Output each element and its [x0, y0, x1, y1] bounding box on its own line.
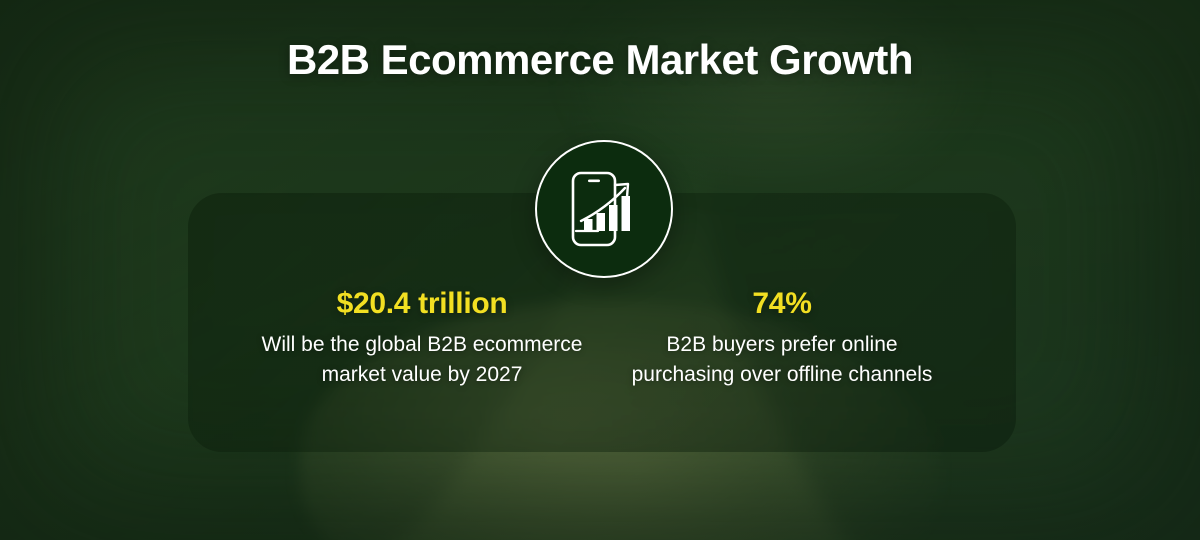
stat-item: $20.4 trillion Will be the global B2B ec…	[242, 286, 602, 390]
stat-value: $20.4 trillion	[254, 286, 590, 322]
stat-description: Will be the global B2B ecommerce market …	[254, 330, 590, 390]
icon-badge	[535, 140, 673, 278]
stat-description: B2B buyers prefer online purchasing over…	[614, 330, 950, 390]
page-title: B2B Ecommerce Market Growth	[0, 36, 1200, 83]
mobile-growth-chart-icon	[567, 169, 641, 249]
stat-item: 74% B2B buyers prefer online purchasing …	[602, 286, 962, 390]
stats-row: $20.4 trillion Will be the global B2B ec…	[188, 286, 1016, 390]
stat-value: 74%	[614, 286, 950, 322]
infographic-canvas: B2B Ecommerce Market Growth $20.4 trilli…	[0, 0, 1200, 540]
